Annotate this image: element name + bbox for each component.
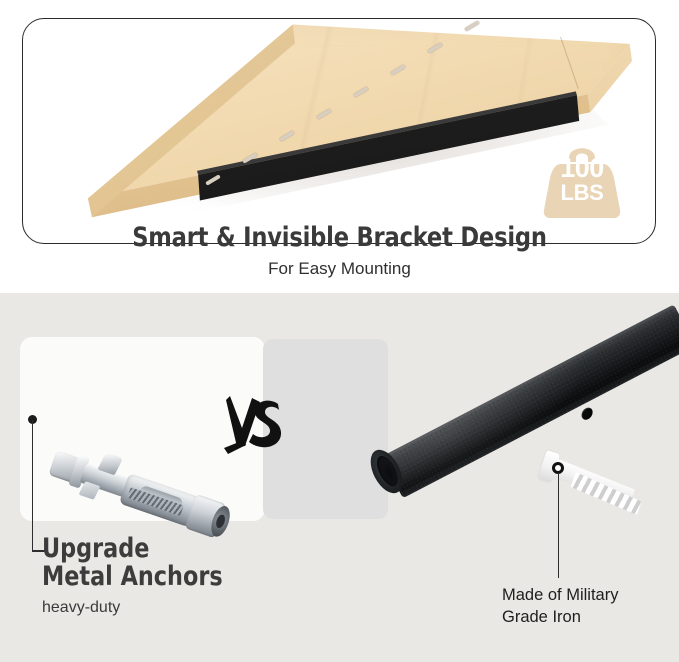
weight-capacity-badge: 100 LBS bbox=[536, 128, 628, 220]
weight-value: 100 bbox=[536, 155, 628, 182]
callout-line-left-vertical bbox=[32, 420, 34, 552]
bracket-slot bbox=[316, 108, 332, 120]
bracket-slot bbox=[390, 64, 406, 76]
feature-subtitle: For Easy Mounting bbox=[0, 259, 679, 279]
callout-left-sub: heavy-duty bbox=[42, 599, 238, 617]
bracket-slot bbox=[353, 86, 369, 98]
callout-left-text: Upgrade Metal Anchors heavy-duty bbox=[42, 535, 238, 617]
callout-right-text: Made of Military Grade Iron bbox=[502, 584, 618, 629]
callout-left-line2: Metal Anchors bbox=[42, 563, 223, 591]
callout-right-line2: Grade Iron bbox=[502, 606, 618, 628]
rod-mounting-hole bbox=[579, 406, 595, 422]
bracket-slot bbox=[427, 42, 443, 54]
weight-unit: LBS bbox=[536, 182, 628, 204]
bracket-slot bbox=[464, 20, 480, 32]
product-feature-image: 100 LBS Smart & Invisible Bracket Design… bbox=[0, 0, 679, 662]
callout-line-right-vertical bbox=[558, 473, 560, 578]
bracket-slot bbox=[279, 130, 295, 142]
feature-title: Smart & Invisible Bracket Design bbox=[24, 222, 655, 253]
callout-left-line1: Upgrade bbox=[42, 535, 223, 563]
callout-right-line1: Made of Military bbox=[502, 584, 618, 606]
versus-icon bbox=[222, 392, 288, 464]
black-iron-rod bbox=[378, 336, 679, 576]
top-feature-section: 100 LBS Smart & Invisible Bracket Design… bbox=[0, 0, 679, 293]
